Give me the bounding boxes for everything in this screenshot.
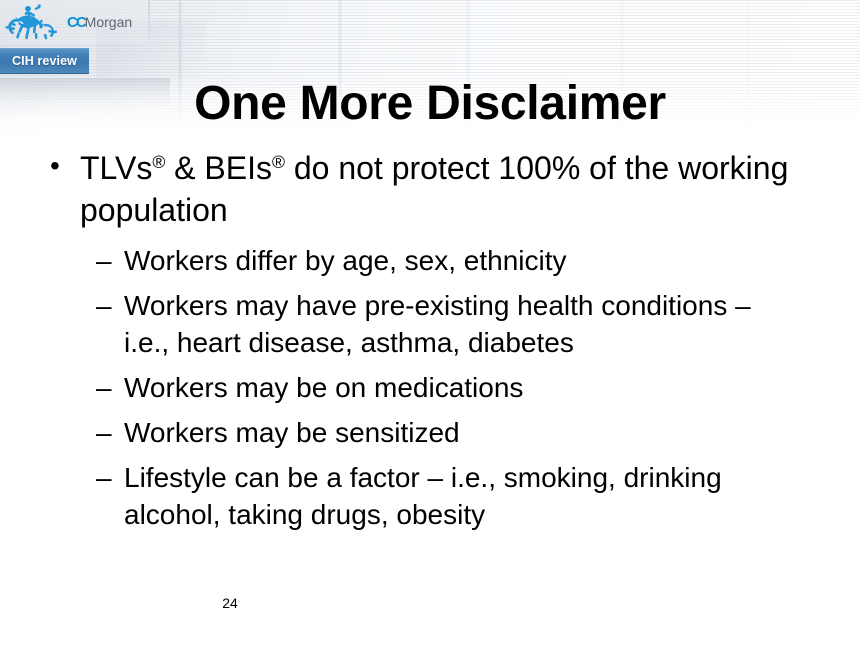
slide-body: TLVs® & BEIs® do not protect 100% of the…	[0, 148, 860, 534]
page-number: 24	[0, 595, 660, 611]
bullet-primary-text-2: & BEIs	[165, 150, 272, 186]
ccmorgan-equestrian-lions-icon	[4, 2, 66, 42]
sub-bullet-item: Lifestyle can be a factor – i.e., smokin…	[96, 460, 796, 534]
bullet-primary-text-1: TLVs	[80, 150, 152, 186]
brand-logo: CCMorgan	[0, 0, 148, 44]
sub-bullet-item: Workers differ by age, sex, ethnicity	[96, 243, 796, 280]
cih-review-badge-label: CIH review	[12, 54, 77, 68]
sub-bullet-item: Workers may have pre-existing health con…	[96, 288, 796, 362]
slide-title: One More Disclaimer	[0, 79, 860, 129]
registered-mark-bei: ®	[272, 152, 285, 172]
brand-wordmark-morgan: Morgan	[85, 14, 132, 30]
cih-review-badge: CIH review	[0, 48, 89, 74]
bullet-primary: TLVs® & BEIs® do not protect 100% of the…	[42, 148, 812, 231]
sub-bullet-item: Workers may be sensitized	[96, 415, 796, 452]
slide-canvas: CCMorgan CIH review One More Disclaimer …	[0, 0, 860, 650]
brand-wordmark-cc: CC	[67, 14, 85, 31]
sub-bullet-item: Workers may be on medications	[96, 370, 796, 407]
sub-bullet-list: Workers differ by age, sex, ethnicity Wo…	[0, 243, 860, 534]
registered-mark-tlv: ®	[152, 152, 165, 172]
brand-wordmark: CCMorgan	[67, 15, 132, 30]
